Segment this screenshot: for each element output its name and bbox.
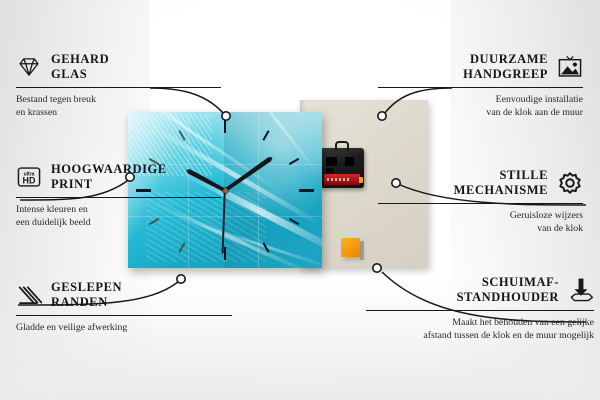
foam-spacer: [341, 238, 360, 257]
callout-title: STILLE MECHANISME: [454, 168, 548, 199]
callout-subtitle-line1: Maakt het behouden van een gelijke: [366, 316, 594, 329]
callout-divider: [16, 315, 232, 316]
hour-marker-5: [262, 242, 269, 253]
callout-subtitle-line1: Intense kleuren en: [16, 203, 221, 216]
hour-marker-6: [224, 247, 226, 260]
callout-divider: [366, 310, 594, 311]
callout-header: DUURZAME HANDGREEP: [378, 52, 583, 83]
callout-header: GESLEPEN RANDEN: [16, 280, 232, 311]
callout-divider: [378, 87, 583, 88]
callout-subtitle-line1: Gladde en veilige afwerking: [16, 321, 232, 334]
callout-hoogwaardige-print: ultra HD HOOGWAARDIGE PRINT Intense kleu…: [16, 162, 221, 229]
callout-divider: [378, 203, 583, 204]
callout-stille-mechanisme: STILLE MECHANISME Geruisloze wijzers van…: [378, 168, 583, 235]
hour-marker-2: [289, 158, 300, 165]
callout-divider: [16, 197, 221, 198]
infographic-canvas: GEHARD GLAS Bestand tegen breuk en krass…: [0, 0, 600, 400]
callout-schuimaf-standhouder: SCHUIMAF- STANDHOUDER Maakt het behouden…: [366, 275, 594, 342]
movement-slot: [345, 157, 354, 166]
callout-title: GESLEPEN RANDEN: [51, 280, 122, 311]
hands-center-cap: [223, 188, 228, 193]
callout-duurzame-handgreep: DUURZAME HANDGREEP Eenvoudige installati…: [378, 52, 583, 119]
movement-slot: [326, 157, 337, 166]
hour-marker-3: [299, 189, 314, 192]
gear-icon: [557, 170, 583, 196]
callout-header: SCHUIMAF- STANDHOUDER: [366, 275, 594, 306]
picture-frame-icon: [557, 54, 583, 80]
callout-subtitle-line2: en krassen: [16, 106, 221, 119]
callout-subtitle-line2: van de klok aan de muur: [378, 106, 583, 119]
second-hand: [222, 190, 226, 254]
quartz-movement: [320, 148, 364, 188]
callout-title: GEHARD GLAS: [51, 52, 109, 83]
callout-geslepen-randen: GESLEPEN RANDEN Gladde en veilige afwerk…: [16, 280, 232, 334]
callout-subtitle-line2: afstand tussen de klok en de muur mogeli…: [366, 329, 594, 342]
callout-title: DUURZAME HANDGREEP: [463, 52, 548, 83]
diamond-icon: [16, 54, 42, 80]
callout-title: SCHUIMAF- STANDHOUDER: [457, 275, 559, 306]
callout-header: ultra HD HOOGWAARDIGE PRINT: [16, 162, 221, 193]
beveled-edges-icon: [16, 282, 42, 308]
hour-marker-11: [178, 130, 185, 141]
callout-subtitle-line1: Bestand tegen breuk: [16, 93, 221, 106]
callout-header: STILLE MECHANISME: [378, 168, 583, 199]
callout-title: HOOGWAARDIGE PRINT: [51, 162, 167, 193]
hour-marker-12: [224, 120, 226, 133]
callout-subtitle-line1: Geruisloze wijzers: [378, 209, 583, 222]
minute-hand: [224, 155, 274, 192]
callout-subtitle-line2: een duidelijk beeld: [16, 216, 221, 229]
hour-marker-4: [289, 218, 300, 225]
foam-spacer-icon: [568, 277, 594, 303]
callout-header: GEHARD GLAS: [16, 52, 221, 83]
battery-label: [327, 178, 351, 182]
callout-subtitle-line2: van de klok: [378, 222, 583, 235]
hanger-loop-icon: [335, 141, 349, 151]
svg-text:HD: HD: [23, 176, 36, 186]
callout-divider: [16, 87, 221, 88]
ultra-hd-icon: ultra HD: [16, 164, 42, 190]
aa-battery: [324, 174, 360, 185]
callout-subtitle-line1: Eenvoudige installatie: [378, 93, 583, 106]
callout-gehard-glas: GEHARD GLAS Bestand tegen breuk en krass…: [16, 52, 221, 119]
hour-marker-1: [262, 130, 269, 141]
hour-marker-7: [178, 242, 185, 253]
